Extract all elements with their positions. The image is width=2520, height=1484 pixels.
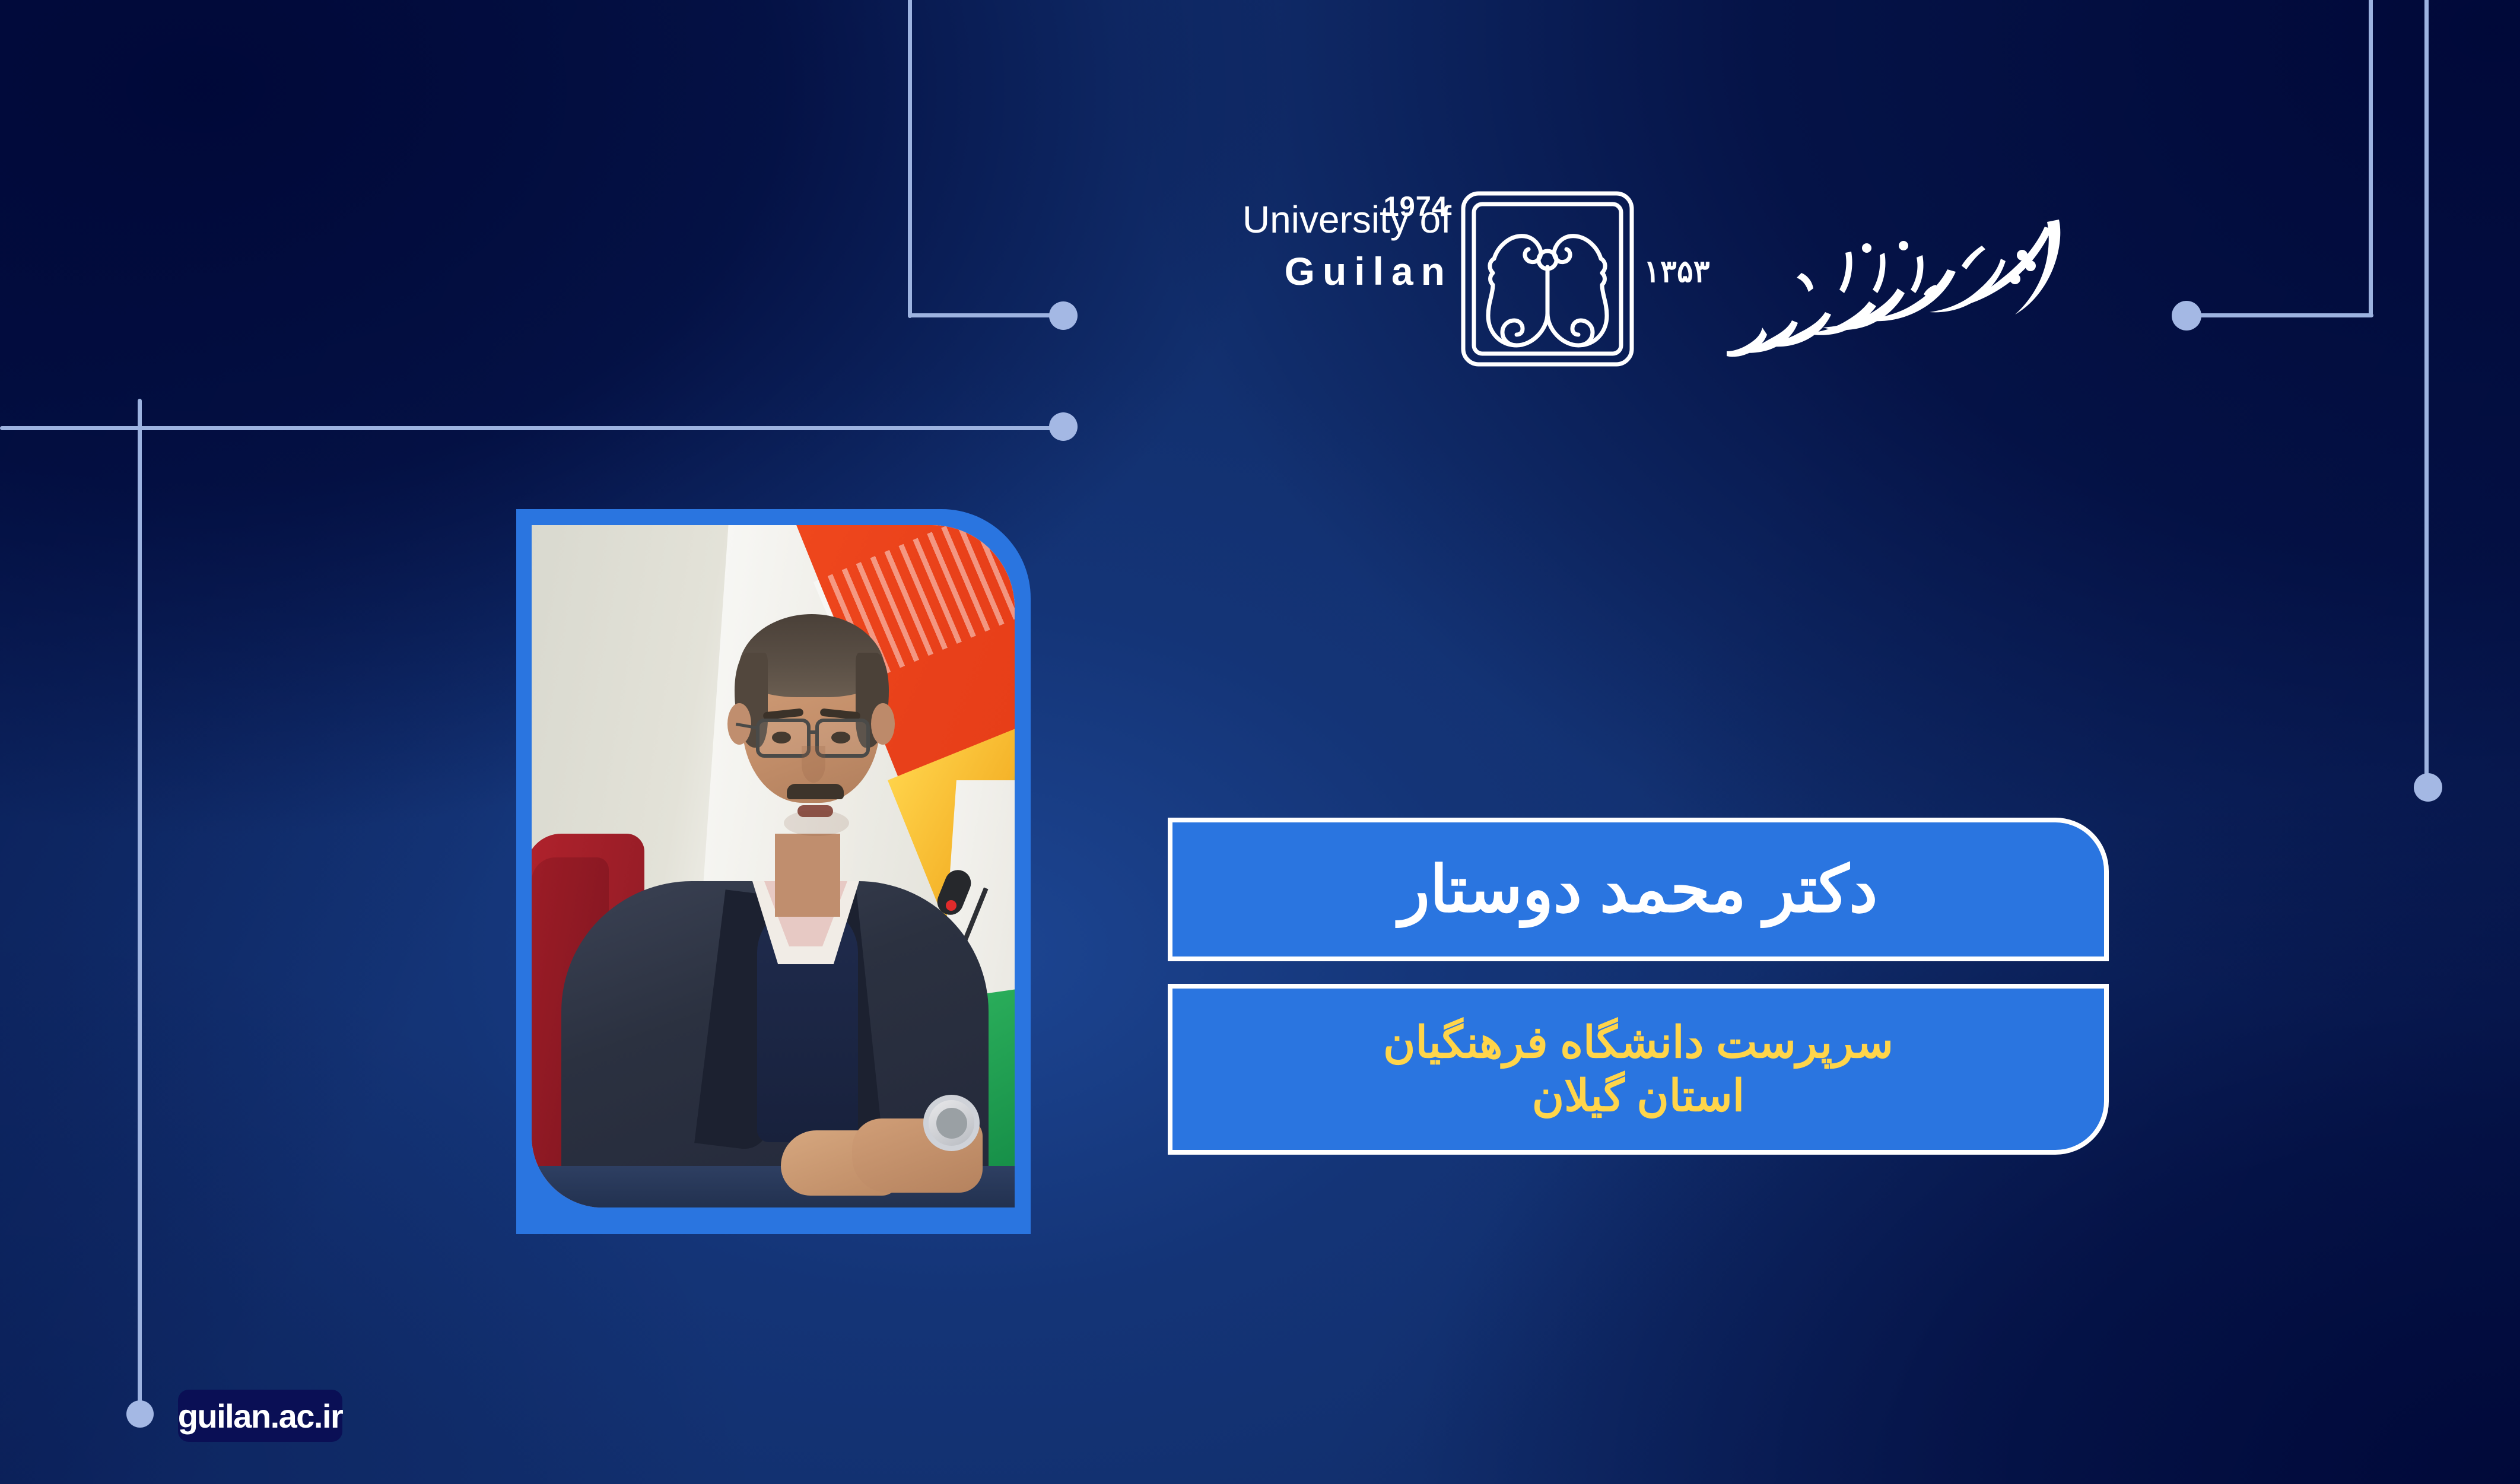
portrait-photo-frame	[516, 509, 1031, 1234]
person-name: دکتر محمد دوستار	[1399, 852, 1878, 927]
logo-guilan-label: Guilan	[1169, 252, 1454, 291]
guilan-university-butterfly-emblem-icon	[1458, 190, 1636, 368]
photo-nose	[802, 746, 825, 783]
logo-year-gregorian: 1974	[1383, 190, 1448, 223]
photo-neck	[775, 834, 840, 917]
decor-line-top-right-vertical	[2369, 0, 2373, 317]
person-title-card: سرپرست دانشگاه فرهنگیان استان گیلان	[1168, 984, 2109, 1155]
portrait-photo	[532, 525, 1015, 1207]
photo-microphone-indicator	[946, 900, 956, 911]
photo-chin-shadow	[784, 810, 849, 836]
decor-line-top-right-horizontal	[2187, 313, 2373, 317]
logo-english-text-block: 1974 University of Guilan	[1169, 201, 1454, 291]
decor-dot-bottom-left	[126, 1400, 154, 1428]
photo-wristwatch-face	[936, 1108, 967, 1139]
logo-persian-university-name	[1727, 196, 2077, 362]
decor-line-top-mid-horizontal	[908, 313, 1063, 317]
decor-dot-left-row-end	[1049, 412, 1078, 441]
person-title-line-1: سرپرست دانشگاه فرهنگیان	[1383, 1016, 1893, 1069]
decor-line-top-left-horizontal	[0, 426, 1062, 430]
person-name-card: دکتر محمد دوستار	[1168, 818, 2109, 961]
photo-moustache	[787, 784, 844, 799]
university-logo: 1974 University of Guilan ۱۳۵۳	[1169, 184, 2077, 374]
decor-line-top-mid-vertical	[908, 0, 912, 318]
person-title-line-2: استان گیلان	[1532, 1069, 1744, 1123]
decor-dot-top-mid	[1049, 301, 1078, 330]
website-url-badge[interactable]: guilan.ac.ir	[178, 1390, 342, 1442]
website-url-text: guilan.ac.ir	[178, 1397, 343, 1435]
decor-dot-far-right	[2414, 773, 2442, 802]
photo-eyeglass-bridge	[809, 730, 819, 734]
logo-year-persian: ۱۳۵۳	[1644, 254, 1710, 290]
decor-line-far-right-vertical	[2424, 0, 2429, 784]
photo-ear-right	[871, 703, 895, 745]
decor-dot-top-right	[2172, 301, 2201, 331]
decor-line-top-left-vertical	[138, 399, 142, 1415]
